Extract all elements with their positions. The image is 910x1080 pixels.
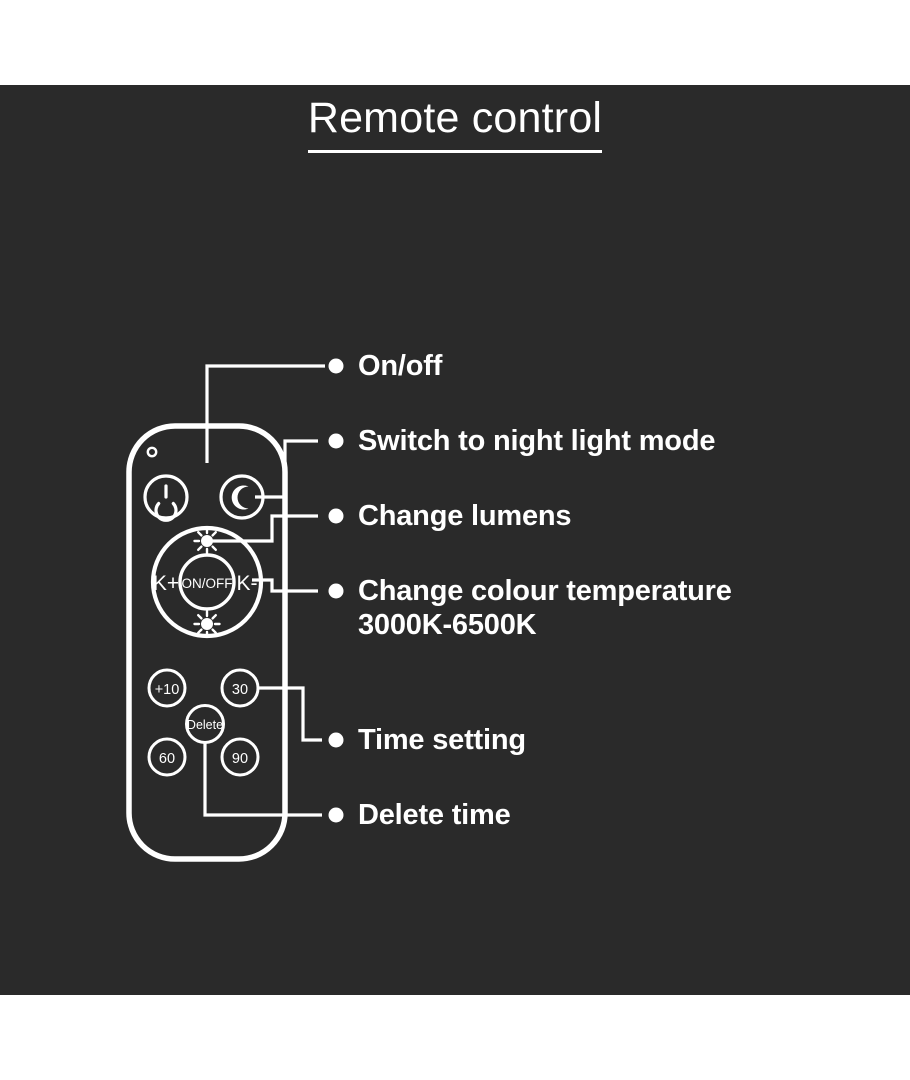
- timer-30-button[interactable]: 30: [222, 670, 258, 706]
- callout-on-off: On/off: [358, 349, 442, 383]
- bullet-change-lumens: [329, 509, 344, 524]
- timer-60-label: 60: [159, 751, 175, 767]
- callout-change-lumens: Change lumens: [358, 499, 571, 533]
- timer-plus10-button[interactable]: +10: [149, 670, 185, 706]
- callout-colour-temp: Change colour temperature 3000K-6500K: [358, 574, 732, 642]
- connector-time-setting: [258, 688, 322, 740]
- bullet-delete-time: [329, 808, 344, 823]
- page-root: Remote control: [0, 0, 910, 1080]
- bullet-on-off: [329, 359, 344, 374]
- sun-bright-icon-core: [201, 535, 213, 547]
- bullet-colour-temp: [329, 584, 344, 599]
- callout-bullets: [329, 359, 344, 823]
- timer-30-label: 30: [232, 682, 248, 698]
- callout-night-light: Switch to night light mode: [358, 424, 715, 458]
- sun-dim-icon-core: [201, 618, 213, 630]
- timer-90-label: 90: [232, 751, 248, 767]
- power-button[interactable]: [145, 476, 187, 520]
- timer-delete-button[interactable]: Delete: [187, 706, 224, 743]
- onoff-center-button[interactable]: ON/OFF: [182, 576, 233, 591]
- moon-icon: [232, 486, 249, 510]
- connector-on-off: [207, 366, 325, 463]
- control-dial[interactable]: K+ K- ON/OFF: [153, 528, 261, 637]
- bullet-time-setting: [329, 733, 344, 748]
- timer-60-button[interactable]: 60: [149, 739, 185, 775]
- bullet-night-light: [329, 434, 344, 449]
- brightness-up-button[interactable]: [195, 529, 220, 554]
- led-indicator: [148, 448, 156, 456]
- remote-diagram: K+ K- ON/OFF +10 30 Delete: [0, 0, 910, 1080]
- power-icon: [156, 486, 176, 520]
- kelvin-up-button[interactable]: K+: [153, 572, 179, 595]
- timer-delete-label: Delete: [187, 718, 223, 732]
- callout-time-setting: Time setting: [358, 723, 526, 757]
- kelvin-down-button[interactable]: K-: [237, 572, 258, 595]
- callout-delete-time: Delete time: [358, 798, 511, 832]
- brightness-down-button[interactable]: [195, 612, 220, 637]
- timer-plus10-label: +10: [155, 682, 180, 698]
- remote-control-device[interactable]: K+ K- ON/OFF +10 30 Delete: [129, 426, 285, 859]
- timer-90-button[interactable]: 90: [222, 739, 258, 775]
